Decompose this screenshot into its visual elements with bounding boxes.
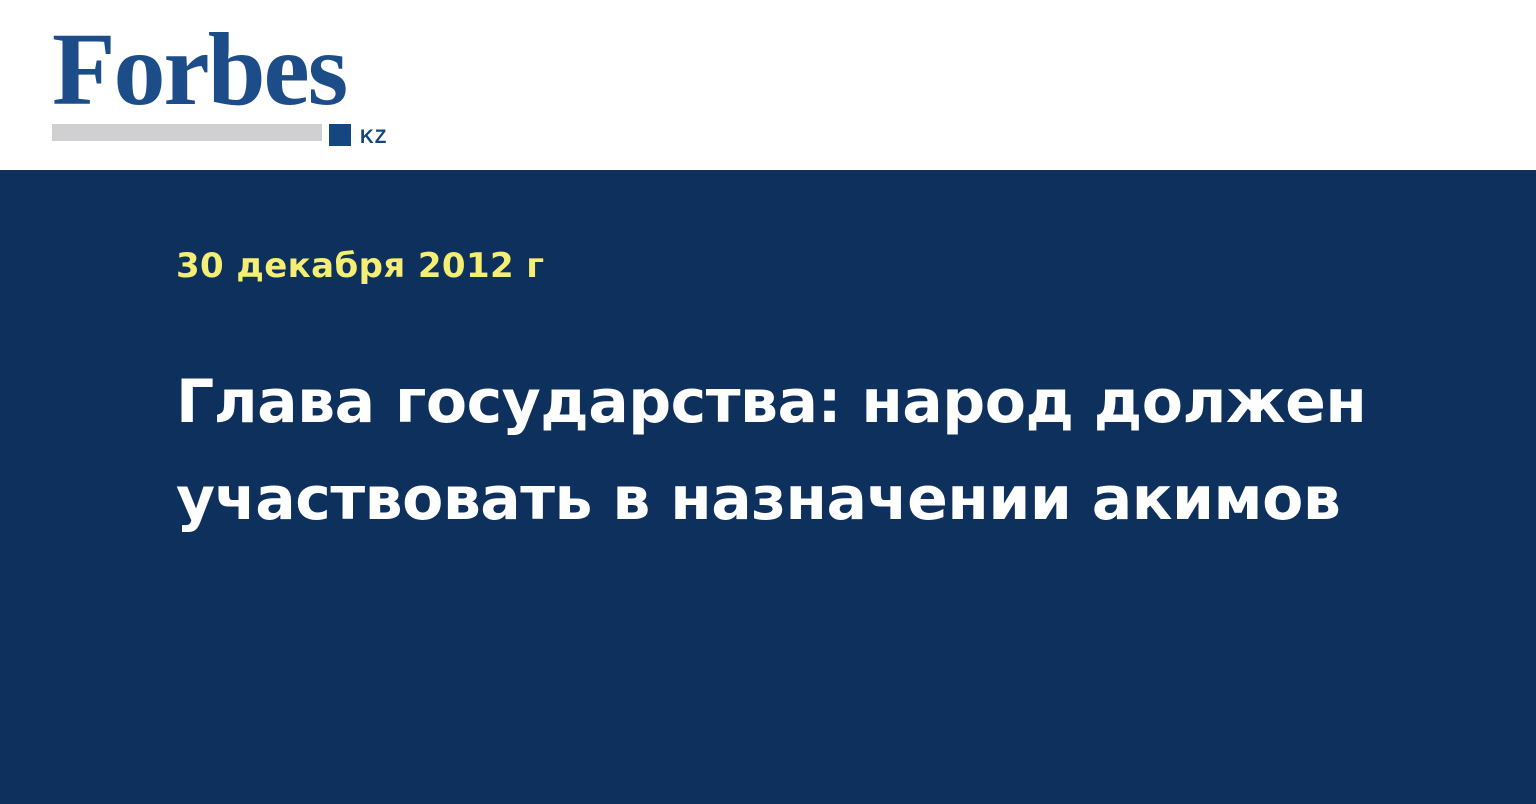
site-header: Forbes kz xyxy=(0,0,1536,170)
hero-content: 30 декабря 2012 г Глава государства: нар… xyxy=(176,246,1396,548)
article-publish-date: 30 декабря 2012 г xyxy=(176,246,1396,286)
logo-kz-label: kz xyxy=(360,121,387,148)
forbes-wordmark: Forbes xyxy=(52,18,346,122)
article-headline[interactable]: Глава государства: народ должен участвов… xyxy=(176,354,1376,548)
headline-line-2: участвовать в назначении акимов xyxy=(176,451,1376,548)
forbes-kz-logo[interactable]: Forbes kz xyxy=(52,18,408,146)
article-hero-banner: 30 декабря 2012 г Глава государства: нар… xyxy=(0,170,1536,804)
square-icon xyxy=(329,124,351,146)
article-hero-page: Forbes kz 30 декабря 2012 г Глава госуда… xyxy=(0,0,1536,804)
headline-line-1: Глава государства: народ должен xyxy=(176,354,1376,451)
logo-kz-mark: kz xyxy=(329,121,387,148)
logo-underline-bar xyxy=(52,124,322,141)
